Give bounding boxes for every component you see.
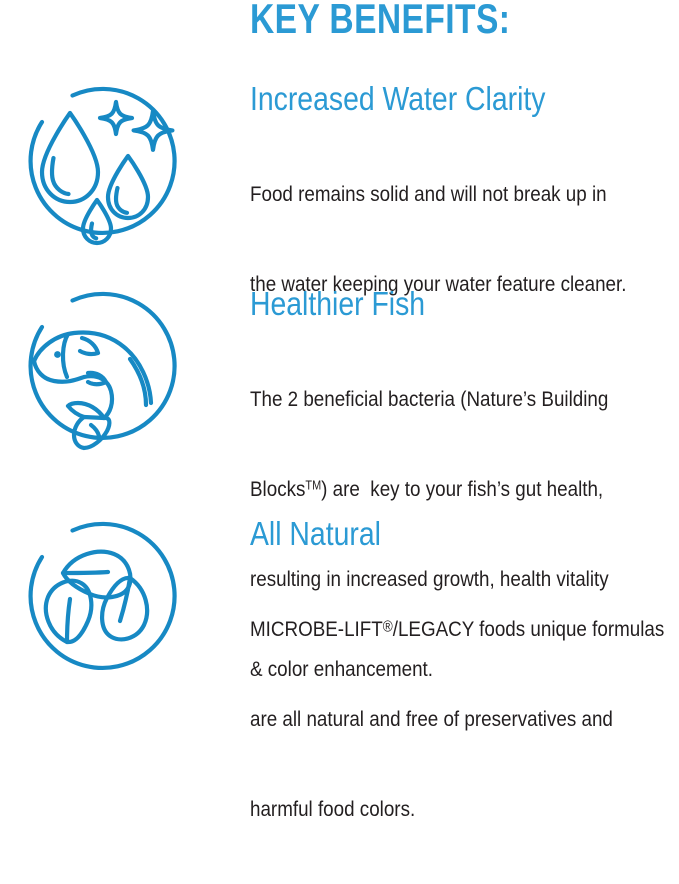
benefit-body-line: BlocksTM) are key to your fish’s gut hea… xyxy=(250,474,621,504)
benefit-body-line: are all natural and free of preservative… xyxy=(250,704,621,734)
water-drops-sparkle-icon xyxy=(12,80,180,248)
benefit-body-line: The 2 beneficial bacteria (Nature’s Buil… xyxy=(250,384,621,414)
three-leaves-recycle-icon xyxy=(12,515,180,683)
benefit-heading: Healthier Fish xyxy=(250,285,615,323)
leaping-fish-icon xyxy=(12,285,180,453)
benefit-body-line: harmful food colors. xyxy=(250,794,621,824)
benefit-text-block: All Natural MICROBE-LIFT®/LEGACY foods u… xyxy=(250,515,674,884)
trademark-superscript: TM xyxy=(305,479,321,493)
registered-mark: ® xyxy=(383,619,393,636)
benefit-body-line: Food remains solid and will not break up… xyxy=(250,179,621,209)
benefit-body-line-text: ) are key to your fish’s gut health, xyxy=(321,477,603,501)
page-title: KEY BENEFITS: xyxy=(250,0,510,42)
benefit-body-line-text: /LEGACY foods unique formulas xyxy=(393,617,665,641)
benefit-body-line: MICROBE-LIFT®/LEGACY foods unique formul… xyxy=(250,614,621,644)
benefit-body: MICROBE-LIFT®/LEGACY foods unique formul… xyxy=(250,554,621,884)
benefit-heading: Increased Water Clarity xyxy=(250,80,615,118)
benefit-body-line-text: Blocks xyxy=(250,477,305,501)
benefit-body-line-text: MICROBE-LIFT xyxy=(250,617,383,641)
benefit-heading: All Natural xyxy=(250,515,615,553)
